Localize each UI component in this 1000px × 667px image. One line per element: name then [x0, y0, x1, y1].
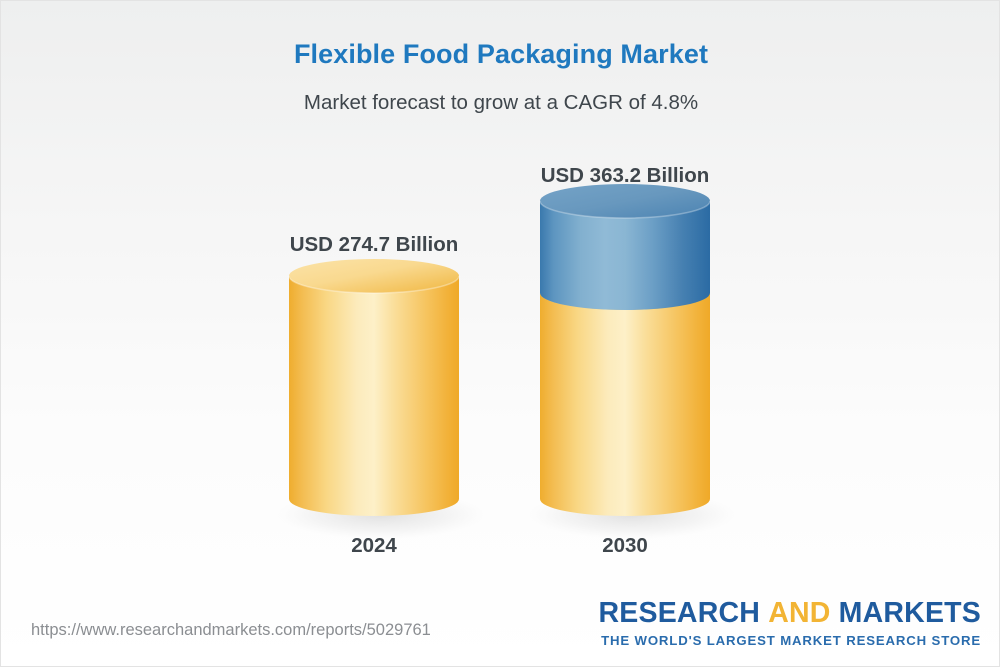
brand-word-research: RESEARCH [599, 597, 761, 629]
cylinder-segment-base-2030 [540, 293, 710, 516]
brand-word-and: AND [768, 597, 830, 629]
bar-value-label-2024: USD 274.7 Billion [199, 233, 549, 257]
cylinder-2030[interactable] [510, 184, 740, 544]
chart-canvas: Flexible Food Packaging Market Market fo… [0, 0, 1000, 667]
report-url[interactable]: https://www.researchandmarkets.com/repor… [31, 621, 431, 640]
brand-tagline: THE WORLD'S LARGEST MARKET RESEARCH STOR… [581, 633, 981, 648]
plot-area: USD 274.7 Billion 2024 USD 363.2 Billion [1, 1, 1000, 601]
brand-logo[interactable]: RESEARCH AND MARKETS THE WORLD'S LARGEST… [581, 599, 981, 648]
brand-wordmark: RESEARCH AND MARKETS [581, 599, 981, 629]
cylinder-2024[interactable] [259, 259, 489, 549]
brand-word-markets: MARKETS [839, 597, 981, 629]
bar-category-label-2030: 2030 [450, 534, 800, 558]
cylinder-body-2024 [289, 276, 459, 516]
